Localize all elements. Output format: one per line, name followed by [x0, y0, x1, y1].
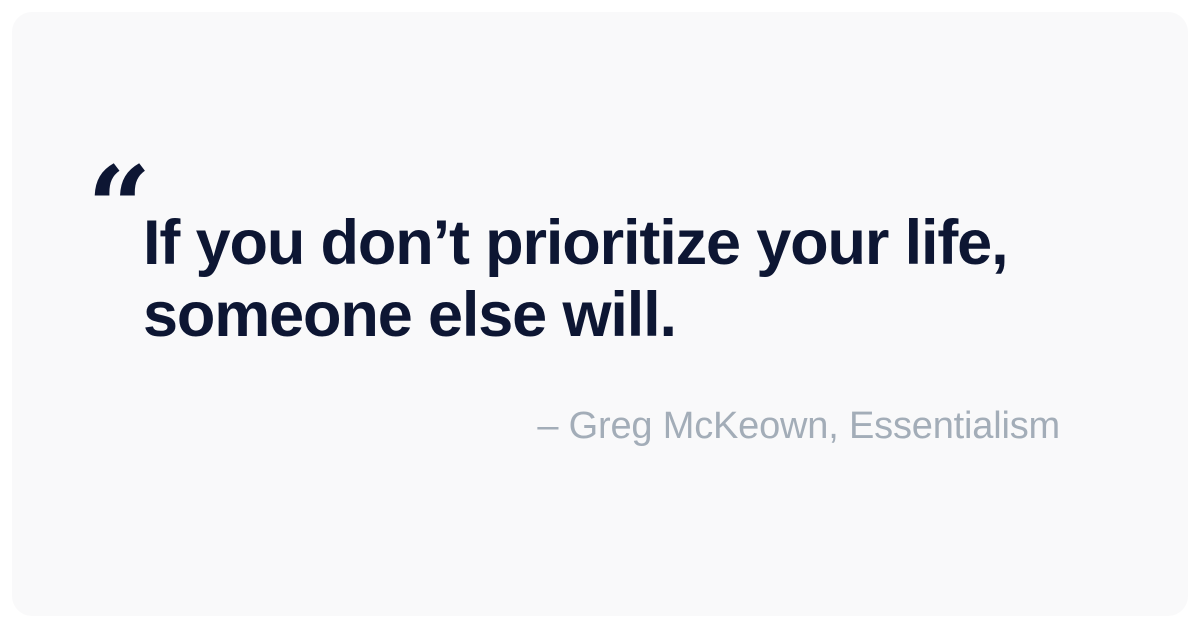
- quote-block: “ If you don’t prioritize your life, som…: [143, 153, 1087, 297]
- quote-card: “ If you don’t prioritize your life, som…: [12, 12, 1188, 616]
- open-quote-icon: “: [87, 153, 149, 265]
- quote-attribution: – Greg McKeown, Essentialism: [143, 403, 1060, 449]
- quote-text: If you don’t prioritize your life, someo…: [143, 207, 1073, 351]
